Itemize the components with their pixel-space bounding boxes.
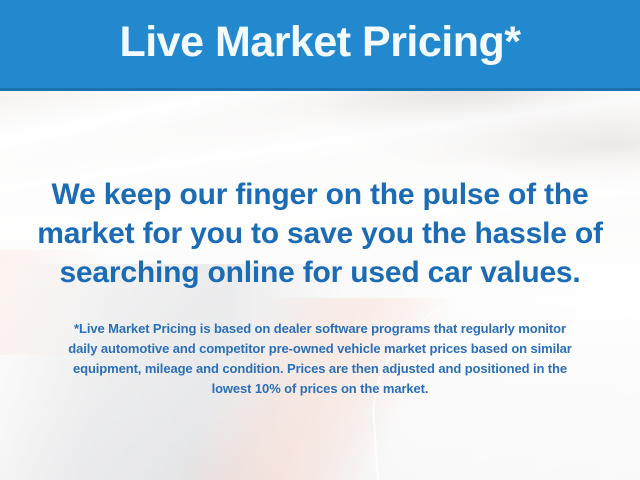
card-content: We keep our finger on the pulse of the m…: [0, 91, 640, 480]
header-banner: Live Market Pricing*: [0, 0, 640, 91]
headline-line-3: searching online for used car values.: [22, 253, 618, 292]
disclaimer-text: *Live Market Pricing is based on dealer …: [22, 319, 618, 399]
headline-line-2: market for you to save you the hassle of: [22, 214, 618, 253]
live-market-pricing-card: Live Market Pricing* We keep our finger …: [0, 0, 640, 480]
disclaimer-line-3: equipment, mileage and condition. Prices…: [22, 359, 618, 379]
headline-text: We keep our finger on the pulse of the m…: [22, 175, 618, 292]
page-title: Live Market Pricing*: [119, 21, 520, 67]
disclaimer-line-2: daily automotive and competitor pre-owne…: [22, 339, 618, 359]
disclaimer-line-4: lowest 10% of prices on the market.: [22, 379, 618, 399]
disclaimer-line-1: *Live Market Pricing is based on dealer …: [22, 319, 618, 339]
headline-line-1: We keep our finger on the pulse of the: [22, 175, 618, 214]
